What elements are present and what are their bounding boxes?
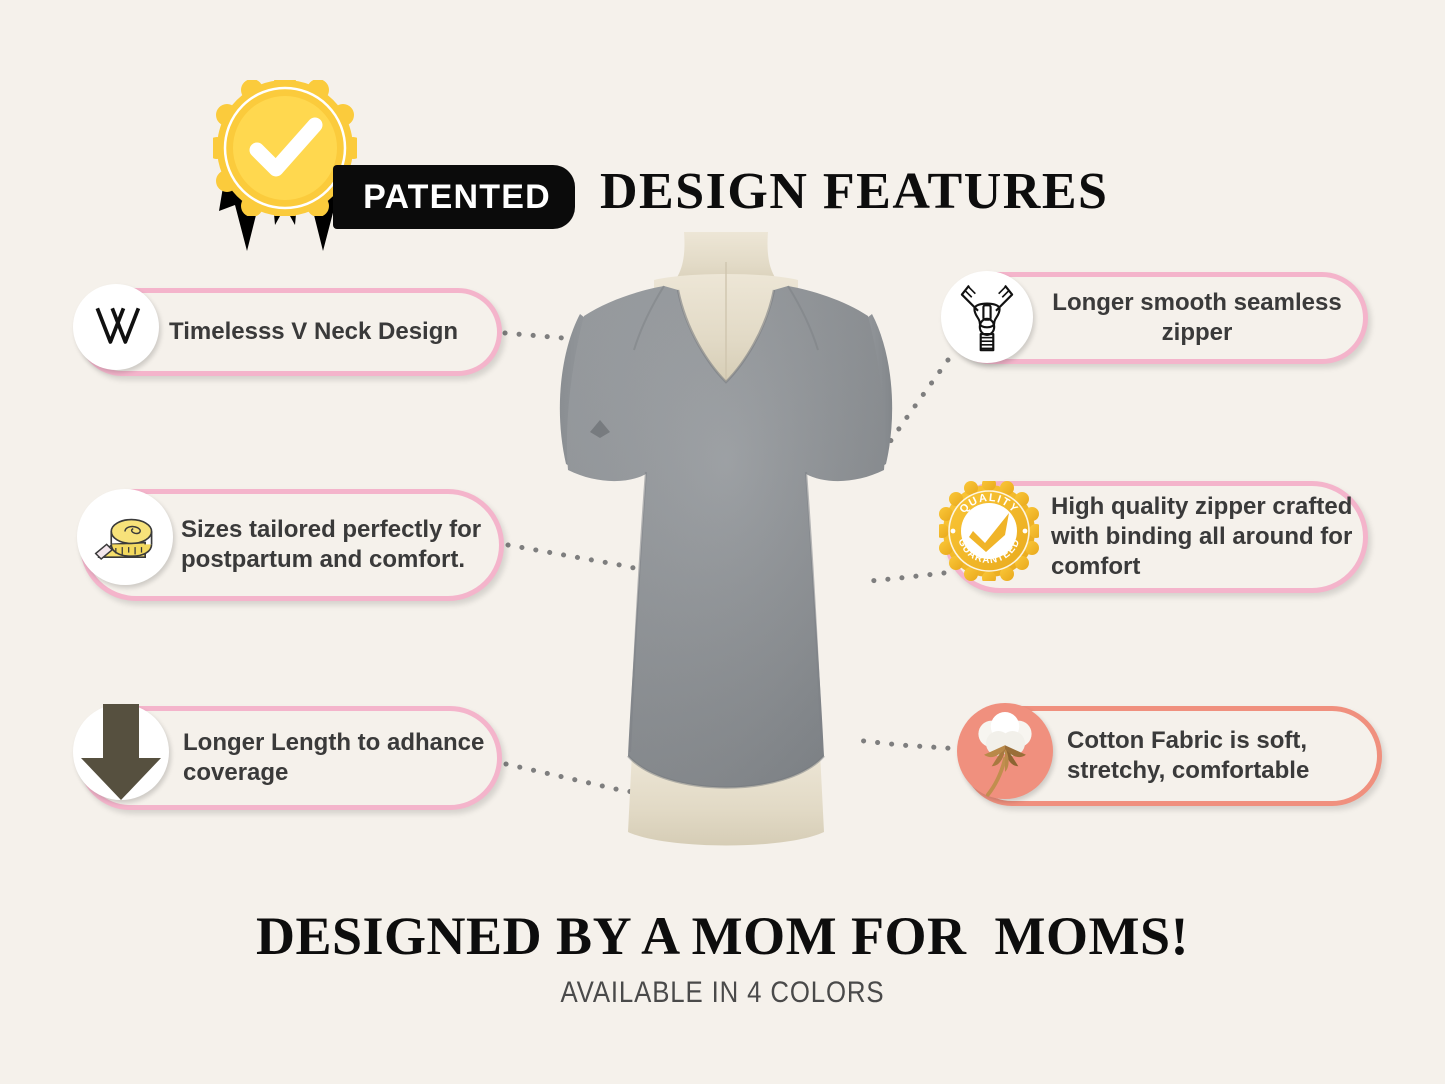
page-title: DESIGN FEATURES bbox=[600, 162, 1108, 221]
footer-headline: DESIGNED BY A MOM FOR MOMS! bbox=[0, 905, 1445, 967]
callout-length-label: Longer Length to adhance coverage bbox=[183, 728, 497, 788]
callout-cotton-label: Cotton Fabric is soft, stretchy, comfort… bbox=[1067, 726, 1377, 786]
callout-v-neck[interactable]: Timelesss V Neck Design bbox=[78, 288, 502, 376]
callout-sizes[interactable]: Sizes tailored perfectly for postpartum … bbox=[80, 489, 504, 601]
down-arrow-icon bbox=[73, 704, 169, 800]
callout-quality[interactable]: QUALITY GUARANTEED High quality zipper c… bbox=[944, 481, 1368, 593]
product-photo-tshirt bbox=[536, 232, 916, 852]
callout-v-neck-label: Timelesss V Neck Design bbox=[169, 317, 458, 347]
v-neck-icon bbox=[73, 284, 159, 370]
callout-zipper-label: Longer smooth seamless zipper bbox=[1037, 288, 1357, 348]
callout-zipper[interactable]: Longer smooth seamless zipper bbox=[944, 272, 1368, 364]
patented-label: PATENTED bbox=[357, 178, 551, 217]
cotton-boll-icon bbox=[957, 703, 1053, 799]
footer-subtitle: AVAILABLE IN 4 COLORS bbox=[101, 976, 1344, 1010]
callout-sizes-label: Sizes tailored perfectly for postpartum … bbox=[181, 515, 499, 575]
callout-cotton[interactable]: Cotton Fabric is soft, stretchy, comfort… bbox=[962, 706, 1382, 806]
infographic-canvas: PATENTED DESIGN FEATURES bbox=[0, 0, 1445, 1084]
patented-label-pill: PATENTED bbox=[333, 165, 575, 229]
zipper-icon bbox=[941, 271, 1033, 363]
callout-quality-label: High quality zipper crafted with binding… bbox=[1051, 492, 1363, 581]
measuring-tape-icon bbox=[77, 489, 173, 585]
quality-guaranteed-seal-icon: QUALITY GUARANTEED bbox=[939, 481, 1039, 581]
callout-length[interactable]: Longer Length to adhance coverage bbox=[78, 706, 502, 810]
header: PATENTED DESIGN FEATURES bbox=[0, 62, 1445, 252]
